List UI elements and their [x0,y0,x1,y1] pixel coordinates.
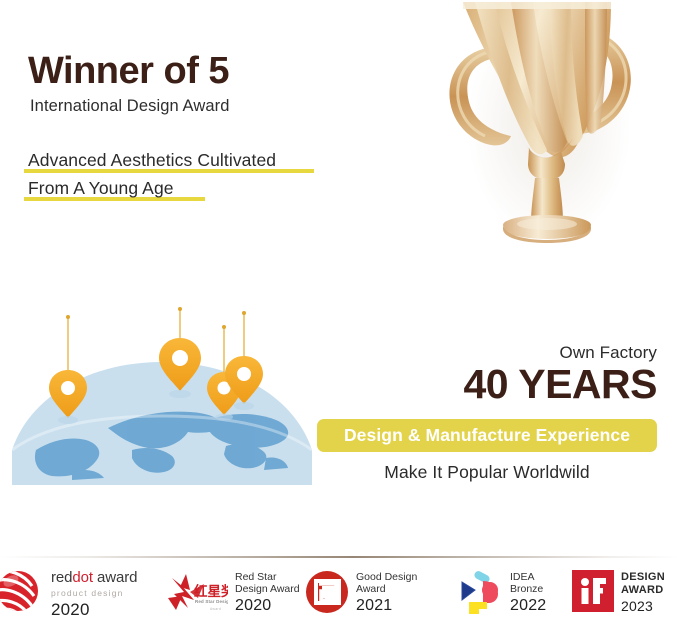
highlight-line-1: Advanced Aesthetics Cultivated [28,150,358,171]
trophy-icon [415,0,665,251]
red-star-meta: Red Star Design Award 2020 [235,570,300,616]
reddot-year: 2020 [51,600,137,620]
idea-meta: IDEA Bronze 2022 [510,570,546,616]
red-star-year: 2020 [235,597,300,616]
svg-text:Award: Award [210,607,221,611]
reddot-sphere-logo [0,568,44,614]
svg-text:红星奖: 红星奖 [194,583,228,600]
highlight-text-1: Advanced Aesthetics Cultivated [28,150,276,170]
idea-line-2: Bronze [510,583,546,595]
factory-tagline: Make It Popular Worldwild [317,462,657,483]
promo-banner: Winner of 5 International Design Award A… [0,0,679,628]
good-design-g-logo [305,570,349,614]
reddot-meta: reddot award product design 2020 [51,568,137,620]
if-design-year: 2023 [621,598,665,615]
globe-with-location-pins-icon [12,300,312,485]
award-badge-good-design: Good Design Award 2021 [305,570,417,616]
reddot-brand-accent: dot [72,569,93,586]
hero-subtitle: International Design Award [30,97,368,117]
award-badge-reddot: reddot award product design 2020 [0,568,137,620]
idea-year: 2022 [510,597,546,616]
award-badges-row: reddot award product design 2020 红星奖 Red… [0,566,679,628]
factory-highlight-block: Own Factory 40 YEARS Design & Manufactur… [317,344,657,483]
good-design-line-2: Award [356,583,417,595]
svg-text:Red Star Design: Red Star Design [195,599,228,604]
reddot-brand-prefix: red [51,569,72,586]
highlight-text-2: From A Young Age [28,178,174,198]
award-badge-if-design: DESIGN AWARD 2023 [572,570,665,614]
reddot-category: product design [51,588,137,598]
page-title: Winner of 5 [28,52,368,92]
reddot-brand-suffix: award [93,569,137,586]
good-design-year: 2021 [356,597,417,616]
idea-geometric-logo [459,570,503,616]
if-design-line-2: AWARD [621,584,665,597]
hero-text-block: Winner of 5 International Design Award [28,52,368,116]
factory-eyebrow: Own Factory [317,344,657,363]
red-star-logo: 红星奖 Red Star Design Award [164,570,228,616]
if-design-meta: DESIGN AWARD 2023 [621,570,665,614]
idea-line-1: IDEA [510,571,546,583]
factory-headline: 40 YEARS [317,364,657,405]
reddot-brand: reddot award [51,569,137,587]
experience-badge: Design & Manufacture Experience [317,419,657,452]
good-design-line-1: Good Design [356,571,417,583]
red-star-line-1: Red Star [235,571,300,583]
award-badge-idea: IDEA Bronze 2022 [459,570,546,616]
red-star-line-2: Design Award [235,583,300,595]
good-design-meta: Good Design Award 2021 [356,570,417,616]
section-divider [0,556,679,558]
if-square-logo [572,570,614,612]
if-design-line-1: DESIGN [621,571,665,584]
highlight-line-2: From A Young Age [28,178,358,199]
highlighted-tagline-block: Advanced Aesthetics Cultivated From A Yo… [28,150,358,206]
award-badge-red-star: 红星奖 Red Star Design Award Red Star Desig… [164,570,300,616]
